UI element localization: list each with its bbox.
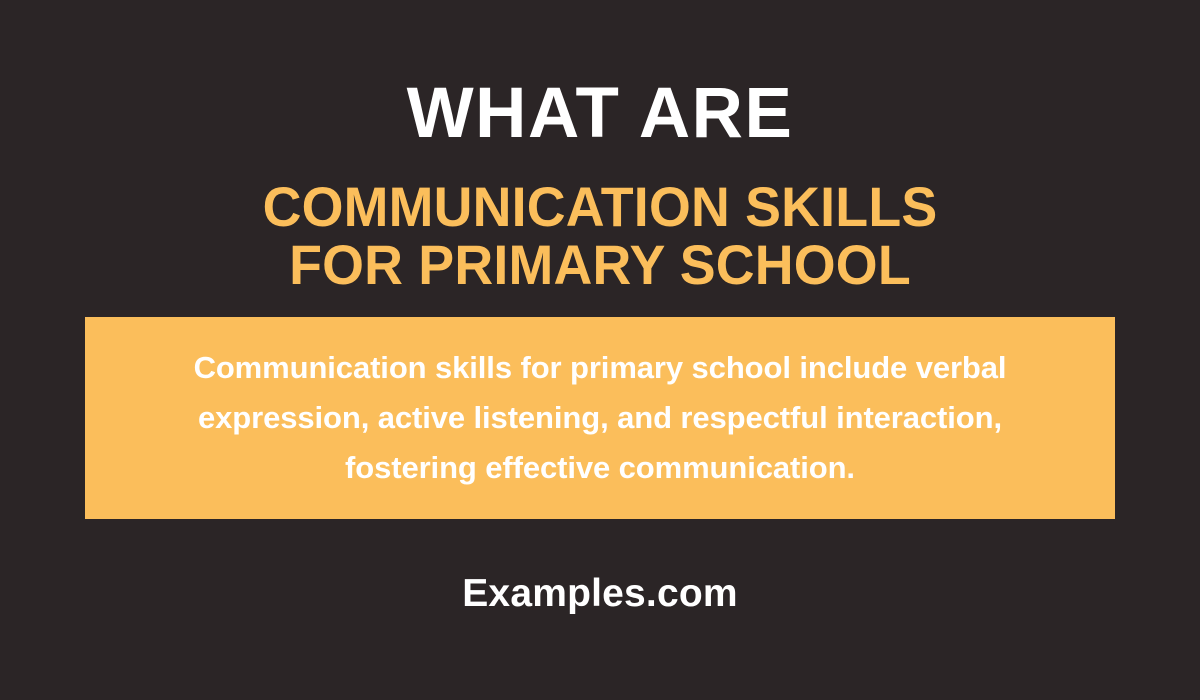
definition-panel: Communication skills for primary school …	[85, 317, 1115, 519]
brand-logo-text: Examples.com	[462, 571, 738, 617]
heading-block: WHAT ARE COMMUNICATION SKILLS FOR PRIMAR…	[0, 78, 1200, 294]
footer: Examples.com	[0, 571, 1200, 617]
page-subtitle-line-2: FOR PRIMARY SCHOOL	[24, 236, 1176, 294]
definition-text: Communication skills for primary school …	[150, 343, 1050, 493]
subtitle-block: COMMUNICATION SKILLS FOR PRIMARY SCHOOL	[0, 178, 1200, 294]
page-title: WHAT ARE	[0, 78, 1200, 149]
poster-canvas: WHAT ARE COMMUNICATION SKILLS FOR PRIMAR…	[0, 0, 1200, 700]
page-subtitle-line-1: COMMUNICATION SKILLS	[24, 178, 1176, 236]
